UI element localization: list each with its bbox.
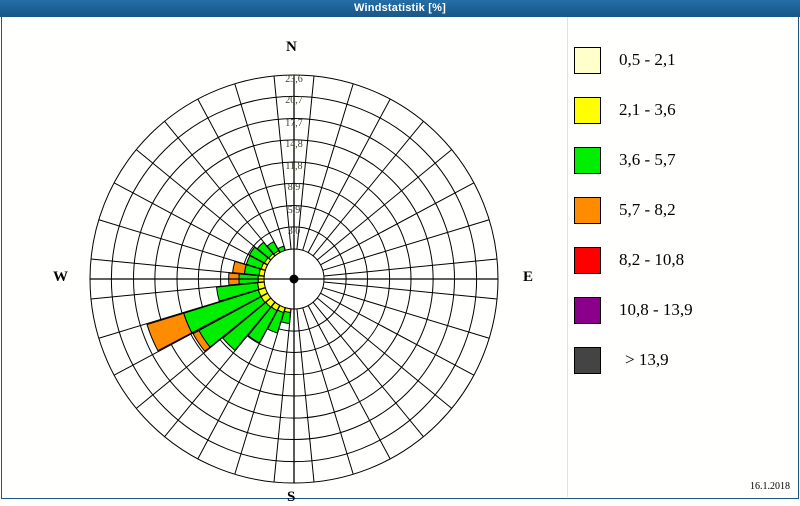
radial-tick-label: 17,7 <box>277 118 311 129</box>
legend-row[interactable]: > 13,9 <box>574 335 788 385</box>
legend-row[interactable]: 2,1 - 3,6 <box>574 85 788 135</box>
grid-spoke <box>308 99 390 252</box>
grid-spoke <box>317 298 452 408</box>
radial-tick-label: 8,9 <box>277 182 311 193</box>
grid-spoke <box>165 121 275 256</box>
wind-sector-segment <box>147 313 192 350</box>
legend-row[interactable]: 5,7 - 8,2 <box>574 185 788 235</box>
legend-label: 2,1 - 3,6 <box>619 100 676 120</box>
window-titlebar: Windstatistik [%] <box>0 0 800 17</box>
grid-spoke <box>317 150 452 260</box>
legend-swatch <box>574 297 601 324</box>
plot-origin-dot <box>290 275 299 284</box>
legend-label: > 13,9 <box>625 350 669 370</box>
radial-tick-label: 14,8 <box>277 139 311 150</box>
legend-label: 5,7 - 8,2 <box>619 200 676 220</box>
radial-tick-label: 20,7 <box>277 95 311 106</box>
grid-spoke <box>308 305 390 458</box>
radial-tick-label: 3,0 <box>277 226 311 237</box>
radial-tick-label: 11,8 <box>277 161 311 172</box>
legend-row[interactable]: 8,2 - 10,8 <box>574 235 788 285</box>
legend-divider <box>567 17 568 497</box>
compass-label-south: S <box>287 489 295 506</box>
legend-label: 10,8 - 13,9 <box>619 300 693 320</box>
grid-spoke <box>313 302 423 437</box>
legend-swatch <box>574 97 601 124</box>
legend-row[interactable]: 3,6 - 5,7 <box>574 135 788 185</box>
legend-swatch <box>574 197 601 224</box>
legend-swatch <box>574 47 601 74</box>
radial-tick-label: 23,6 <box>277 74 311 85</box>
date-stamp: 16.1.2018 <box>750 481 790 492</box>
plot-hub <box>290 275 299 284</box>
compass-label-north: N <box>286 39 297 56</box>
compass-label-west: W <box>53 269 68 286</box>
wind-rose-plot: N S W E 3,05,98,911,814,817,720,723,6 <box>2 17 567 497</box>
wind-statistics-window: Windstatistik [%] N S W E 3,05,98,911,81… <box>0 0 800 500</box>
legend-swatch <box>574 147 601 174</box>
grid-spoke <box>136 150 271 260</box>
compass-label-east: E <box>523 269 533 286</box>
wind-sectors <box>147 242 291 352</box>
legend-row[interactable]: 0,5 - 2,1 <box>574 35 788 85</box>
legend-swatch <box>574 347 601 374</box>
radial-tick-label: 5,9 <box>277 205 311 216</box>
legend-swatch <box>574 247 601 274</box>
window-client-area: N S W E 3,05,98,911,814,817,720,723,6 0,… <box>1 17 799 499</box>
grid-spoke <box>114 183 267 265</box>
legend-label: 3,6 - 5,7 <box>619 150 676 170</box>
wind-rose-svg <box>2 17 567 497</box>
wind-speed-legend: 0,5 - 2,12,1 - 3,63,6 - 5,75,7 - 8,28,2 … <box>574 35 788 385</box>
grid-spoke <box>313 121 423 256</box>
grid-spoke <box>320 183 473 265</box>
grid-spoke <box>320 293 473 375</box>
legend-row[interactable]: 10,8 - 13,9 <box>574 285 788 335</box>
grid-spoke <box>198 99 280 252</box>
legend-label: 0,5 - 2,1 <box>619 50 676 70</box>
legend-label: 8,2 - 10,8 <box>619 250 684 270</box>
